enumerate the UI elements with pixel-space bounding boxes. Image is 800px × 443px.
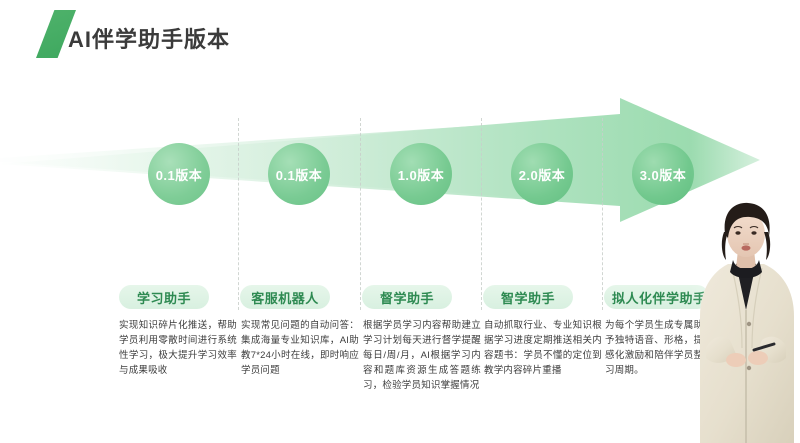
column-divider [238,118,239,310]
version-circle-3[interactable]: 1.0版本 [390,143,452,205]
slide-canvas: AI伴学助手版本 0.1版本 0.1版本 1.0版本 2.0版本 3.0版本 学 [0,0,800,443]
stage-label-pill-2[interactable]: 客服机器人 [240,285,330,309]
version-circle-5[interactable]: 3.0版本 [632,143,694,205]
stage-description-4: 自动抓取行业、专业知识根据学习进度定期推送相关内容题书：学员不懂的定位到教学内容… [484,318,602,378]
presenter-video-overlay [692,198,800,443]
stage-description-2: 实现常见问题的自动问答：集成海量专业知识库，AI助教7*24小时在线，即时响应学… [241,318,359,378]
column-divider [360,118,361,310]
page-title: AI伴学助手版本 [68,22,230,54]
stage-description-3: 根据学员学习内容帮助建立学习计划每天进行督学提醒每日/周/月，AI根据学习内容和… [363,318,481,393]
slide-header: AI伴学助手版本 [0,8,800,64]
version-circle-4[interactable]: 2.0版本 [511,143,573,205]
presenter-figure [692,198,800,443]
stage-label-pill-1[interactable]: 学习助手 [119,285,209,309]
column-divider [481,118,482,310]
version-circle-1[interactable]: 0.1版本 [148,143,210,205]
stage-description-1: 实现知识碎片化推送，帮助学员利用零散时间进行系统性学习，极大提升学习效率与成果吸… [119,318,237,378]
column-divider [602,118,603,310]
stage-label-pill-4[interactable]: 智学助手 [483,285,573,309]
stage-label-pill-3[interactable]: 督学助手 [362,285,452,309]
version-circle-2[interactable]: 0.1版本 [268,143,330,205]
